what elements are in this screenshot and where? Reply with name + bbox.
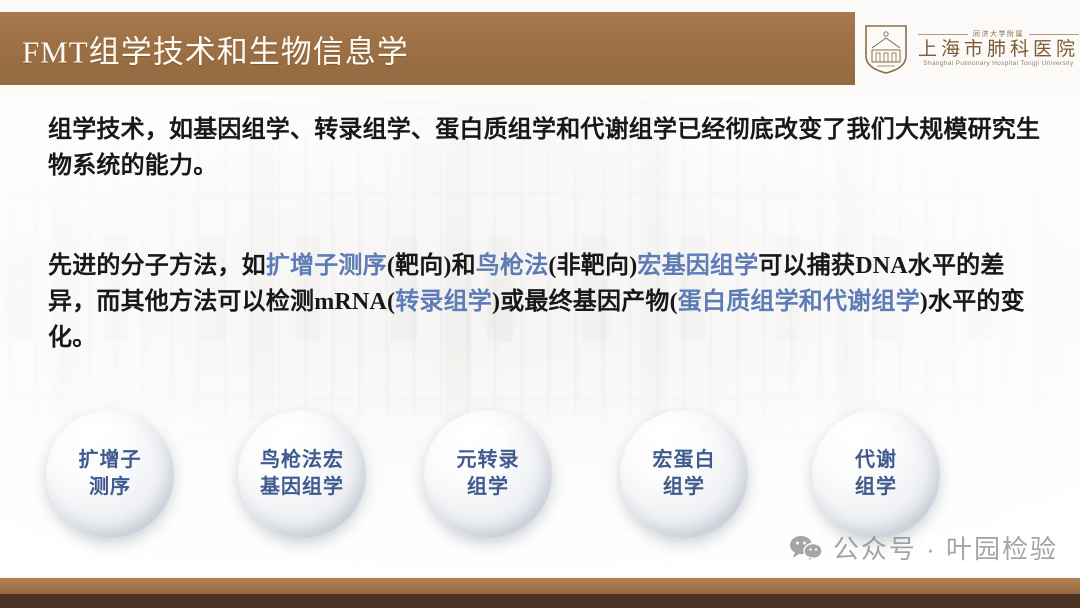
paragraph-text: (靶向)和: [387, 253, 476, 279]
bubble-label-line1: 元转录: [457, 447, 520, 474]
paragraph-text: 组学技术，如基因组学、转录组学、蛋白质组学和代谢组学已经彻底改变了我们大规模研究…: [48, 117, 1040, 179]
highlighted-term: 转录组学: [395, 289, 492, 315]
bubble-label: 元转录 组学: [457, 447, 520, 501]
logo-rule-right: [1029, 34, 1079, 35]
bubble-shotgun-metagenomics[interactable]: 鸟枪法宏 基因组学: [238, 410, 366, 538]
bubble-label-line2: 组学: [855, 474, 897, 501]
paragraph-2: 先进的分子方法，如扩增子测序(靶向)和鸟枪法(非靶向)宏基因组学可以捕获DNA水…: [48, 248, 1048, 356]
bubble-label-line2: 组学: [457, 474, 520, 501]
footer-shadow-bar: [0, 594, 1080, 608]
highlighted-term: 扩增子测序: [266, 253, 387, 279]
bubble-label: 扩增子 测序: [79, 447, 142, 501]
bubble-label: 鸟枪法宏 基因组学: [260, 447, 344, 501]
highlighted-term: 鸟枪法: [476, 253, 549, 279]
highlighted-term: 蛋白质组学和代谢组学: [678, 289, 920, 315]
slide: FMT组学技术和生物信息学 同济大学附属 上海市肺科医院 Shanghai Pu…: [0, 0, 1080, 608]
hospital-affiliation-row: 同济大学附属: [918, 31, 1079, 38]
footer-bar: [0, 578, 1080, 594]
bubble-metatranscriptomics[interactable]: 元转录 组学: [424, 410, 552, 538]
hospital-name-cn: 上海市肺科医院: [918, 40, 1079, 59]
paragraph-text: (非靶向): [548, 253, 637, 279]
watermark-text: 公众号 · 叶园检验: [833, 529, 1058, 566]
bubble-label-line2: 测序: [79, 474, 142, 501]
header-banner: FMT组学技术和生物信息学: [0, 12, 855, 85]
hospital-name-en: Shanghai Pulmonary Hospital Tongji Unive…: [923, 61, 1073, 68]
bubble-label-line2: 基因组学: [260, 474, 344, 501]
page-title: FMT组学技术和生物信息学: [22, 26, 409, 71]
bubble-label: 代谢 组学: [855, 447, 897, 501]
bubble-label-line2: 组学: [653, 474, 716, 501]
bubble-metabolomics[interactable]: 代谢 组学: [812, 410, 940, 538]
watermark: 公众号 · 叶园检验: [789, 529, 1058, 566]
hospital-shield-crest-icon: [862, 22, 910, 76]
paragraph-text: )或最终基因产物(: [492, 289, 678, 315]
bubble-metaproteomics[interactable]: 宏蛋白 组学: [620, 410, 748, 538]
bubble-amplicon-sequencing[interactable]: 扩增子 测序: [46, 410, 174, 538]
bubble-label-line1: 宏蛋白: [653, 447, 716, 474]
wechat-icon: [789, 534, 823, 562]
bubble-label-line1: 代谢: [855, 447, 897, 474]
bubble-label: 宏蛋白 组学: [653, 447, 716, 501]
logo-rule-left: [918, 34, 968, 35]
hospital-logo-text: 同济大学附属 上海市肺科医院 Shanghai Pulmonary Hospit…: [918, 31, 1079, 68]
paragraph-text: 先进的分子方法，如: [48, 253, 266, 279]
paragraph-1: 组学技术，如基因组学、转录组学、蛋白质组学和代谢组学已经彻底改变了我们大规模研究…: [48, 112, 1048, 184]
hospital-affiliation: 同济大学附属: [973, 31, 1024, 38]
highlighted-term: 宏基因组学: [637, 253, 758, 279]
bubble-label-line1: 扩增子: [79, 447, 142, 474]
hospital-logo: 同济大学附属 上海市肺科医院 Shanghai Pulmonary Hospit…: [862, 18, 1074, 80]
bubble-label-line1: 鸟枪法宏: [260, 447, 344, 474]
